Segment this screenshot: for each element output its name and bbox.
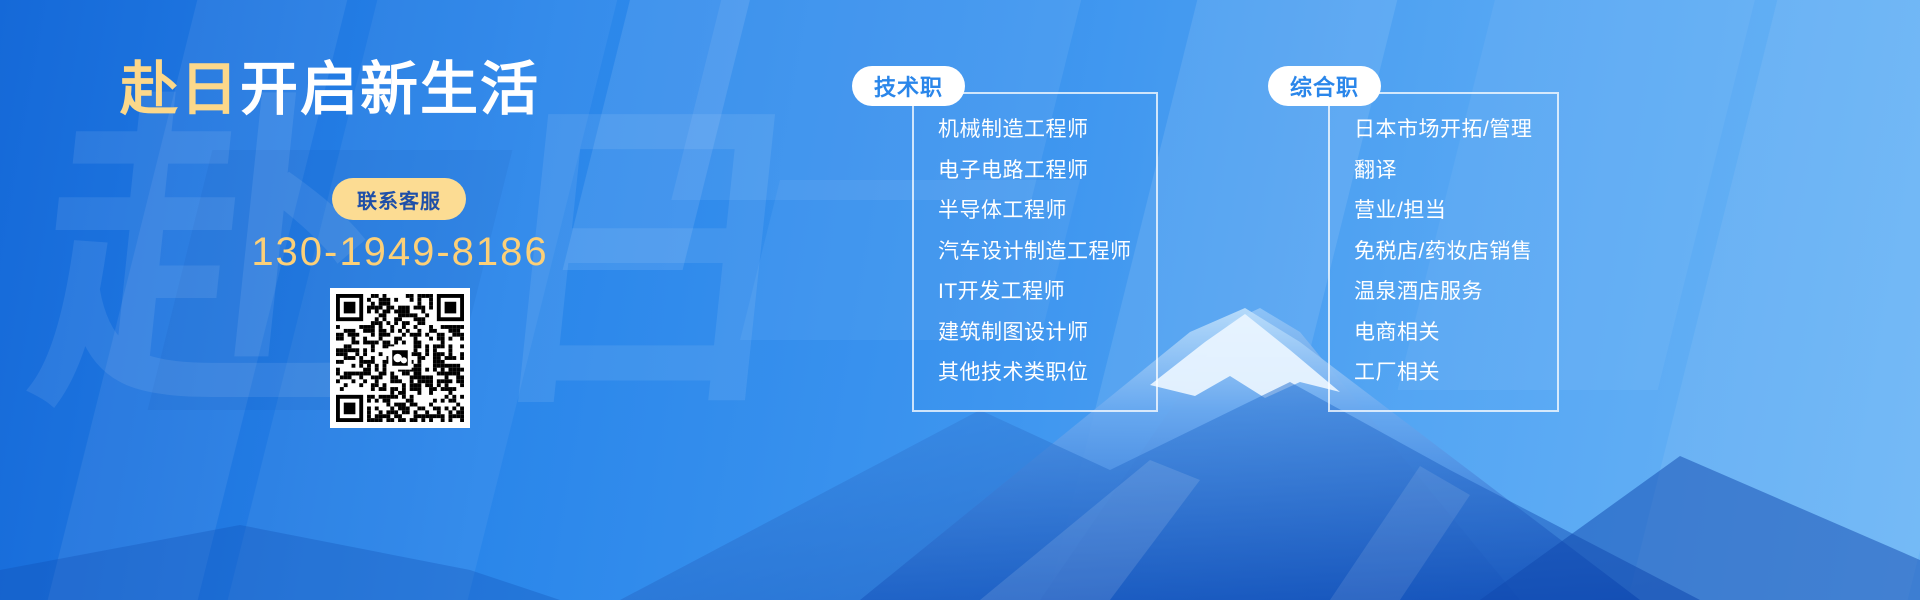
headline-accent: 赴日 — [120, 57, 240, 122]
decor-ribbon — [1615, 0, 1920, 600]
promo-left-panel: 赴日开启新生活 联系客服 130-1949-8186 — [0, 0, 660, 600]
list-item[interactable]: 其他技术类职位 — [938, 353, 1132, 394]
page-title: 赴日开启新生活 — [0, 42, 660, 126]
technical-category-badge[interactable]: 技术职 — [852, 66, 965, 106]
list-item[interactable]: 建筑制图设计师 — [938, 313, 1132, 354]
technical-job-list: 机械制造工程师 电子电路工程师 半导体工程师 汽车设计制造工程师 IT开发工程师… — [938, 110, 1132, 394]
list-item[interactable]: 半导体工程师 — [938, 191, 1132, 232]
list-item[interactable]: IT开发工程师 — [938, 272, 1132, 313]
promo-banner: 赴日 赴日开启新生活 — [0, 0, 1920, 600]
qr-code-image — [336, 294, 464, 422]
list-item[interactable]: 汽车设计制造工程师 — [938, 232, 1132, 273]
general-category-badge[interactable]: 综合职 — [1268, 66, 1381, 106]
phone-number: 130-1949-8186 — [0, 230, 800, 275]
qr-code[interactable] — [330, 288, 470, 428]
headline-rest: 开启新生活 — [240, 57, 540, 122]
list-item[interactable]: 电子电路工程师 — [938, 151, 1132, 192]
list-item[interactable]: 翻译 — [1354, 151, 1532, 192]
list-item[interactable]: 营业/担当 — [1354, 191, 1532, 232]
list-item[interactable]: 机械制造工程师 — [938, 110, 1132, 151]
general-job-list: 日本市场开拓/管理 翻译 营业/担当 免税店/药妆店销售 温泉酒店服务 电商相关… — [1354, 110, 1532, 394]
contact-support-button[interactable]: 联系客服 — [332, 178, 466, 220]
list-item[interactable]: 免税店/药妆店销售 — [1354, 232, 1532, 273]
list-item[interactable]: 温泉酒店服务 — [1354, 272, 1532, 313]
list-item[interactable]: 日本市场开拓/管理 — [1354, 110, 1532, 151]
list-item[interactable]: 电商相关 — [1354, 313, 1532, 354]
list-item[interactable]: 工厂相关 — [1354, 353, 1532, 394]
